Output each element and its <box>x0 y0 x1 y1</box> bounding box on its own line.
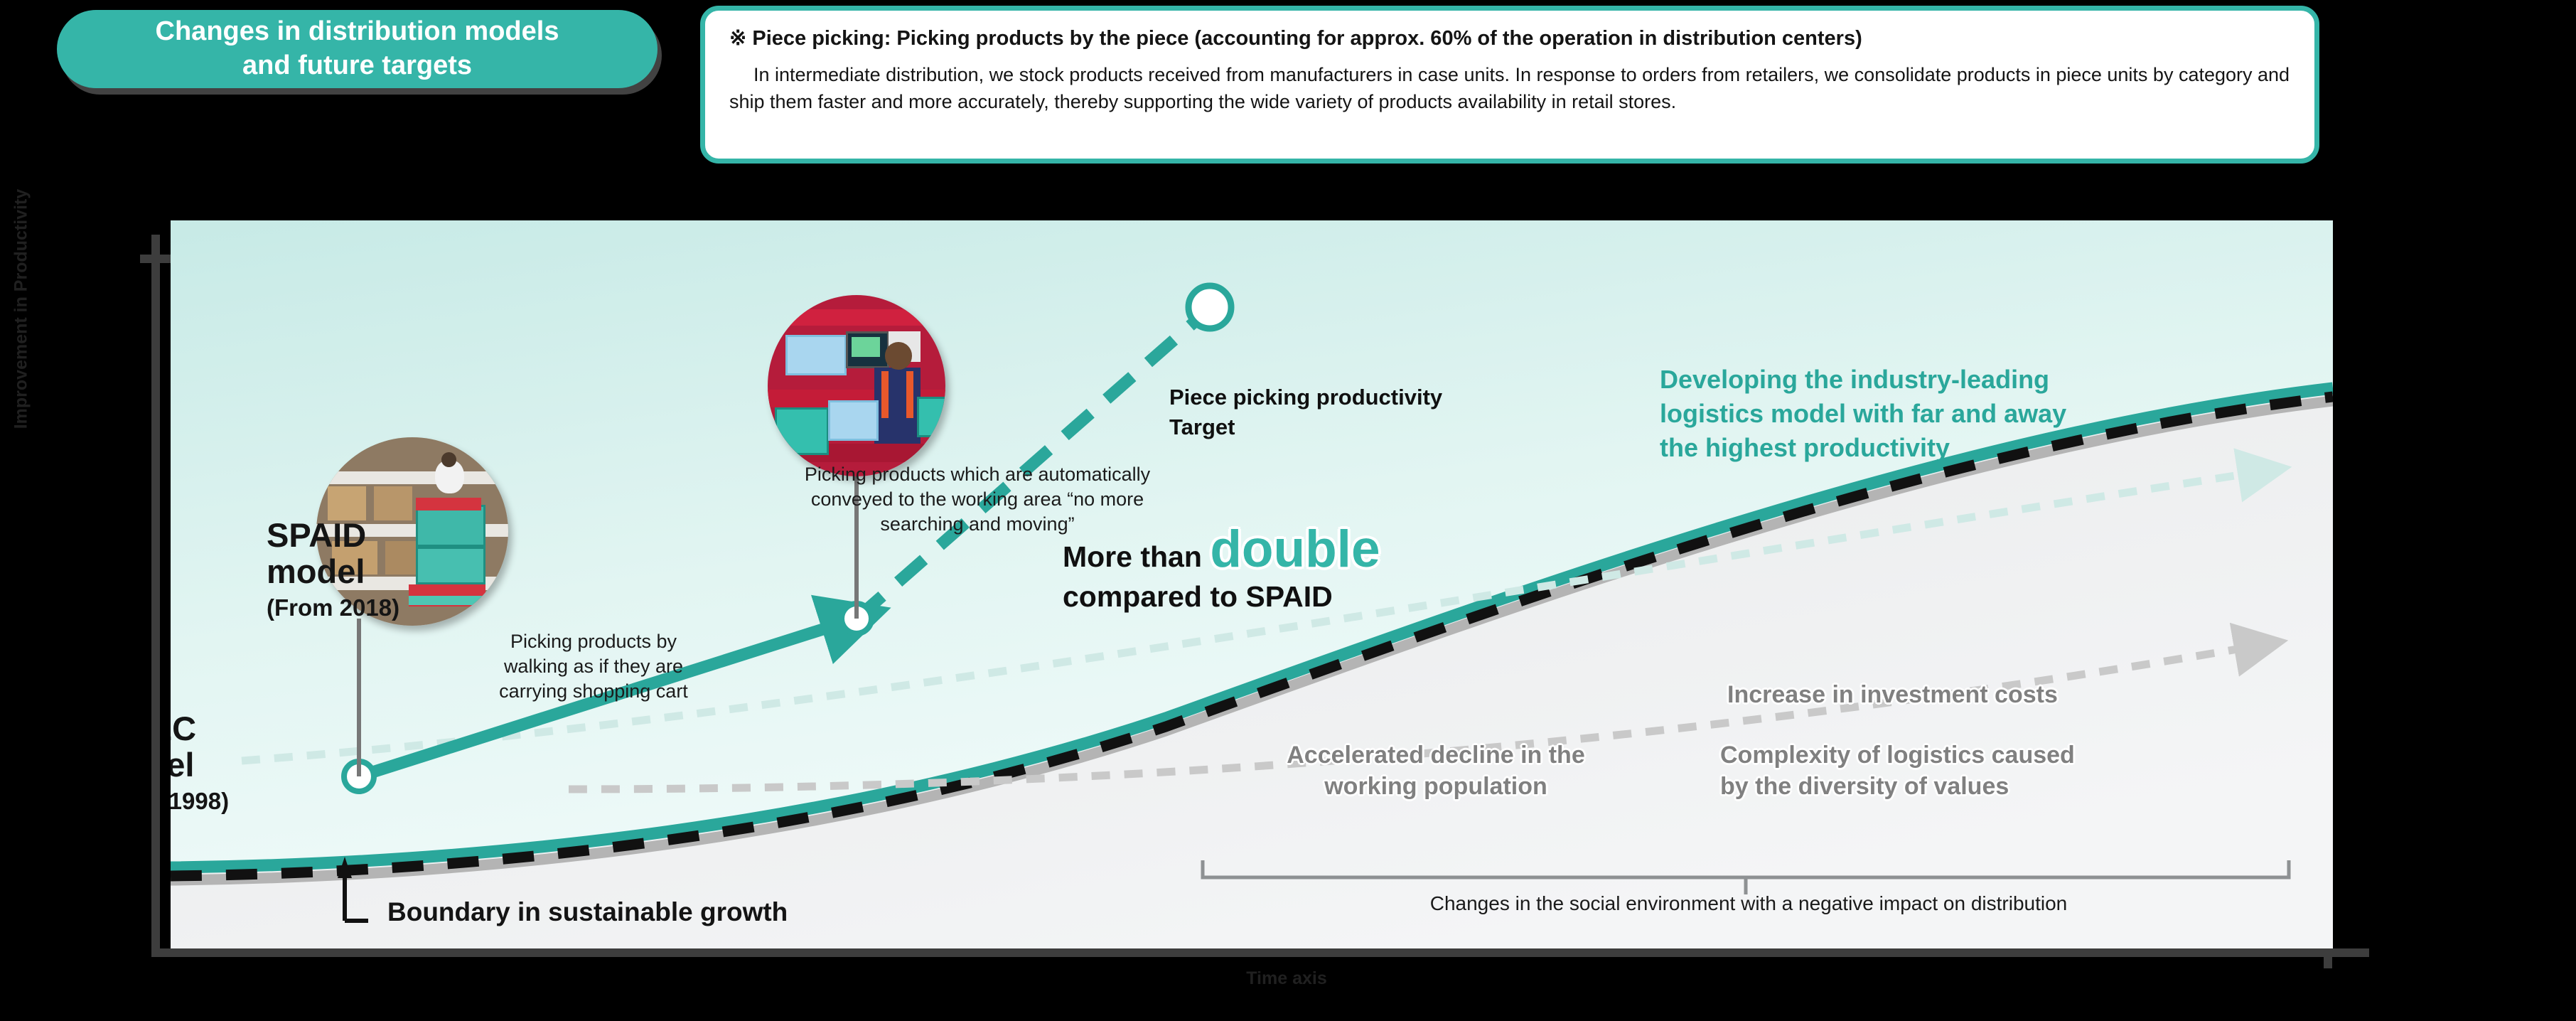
spiec-model-label: SPIEC model (From 1998) <box>171 711 229 813</box>
target-line2: Target <box>1169 412 1624 442</box>
page-title-line1: Changes in distribution models <box>156 15 559 49</box>
worker-head-spaid <box>885 342 912 369</box>
page-title-badge: Changes in distribution models and futur… <box>57 10 658 88</box>
chart-plot-area: Picking products by walking as if they a… <box>171 220 2333 948</box>
complexity-line1: Complexity of logistics caused <box>1720 739 2324 771</box>
crate-teal <box>416 505 485 547</box>
basket-blue-mid <box>828 400 879 441</box>
increase-investment-costs-label: Increase in investment costs <box>1727 679 2058 710</box>
y-axis-label: Improvement in Productivity <box>11 160 32 459</box>
carton-b <box>374 486 412 520</box>
piece-picking-target-label: Piece picking productivity Target <box>1169 383 1624 442</box>
note-body: In intermediate distribution, we stock p… <box>729 61 2290 116</box>
compared-to-spaid-text: compared to SPAID <box>1063 580 1667 614</box>
crate-teal-2 <box>416 547 485 585</box>
piece-picking-note-box: ※ Piece picking: Picking products by the… <box>700 6 2319 164</box>
y-axis <box>151 235 160 953</box>
spiec-caption: Picking products by walking as if they a… <box>476 629 711 704</box>
basket-teal-left <box>775 407 829 455</box>
spaid-model-word: model <box>267 554 399 590</box>
spaid-model-name: SPAID <box>267 518 399 554</box>
basket-blue-top <box>785 335 847 375</box>
spaid-model-label: SPAID model (From 2018) <box>267 518 399 620</box>
spaid-photo-inner <box>768 295 945 476</box>
decline-line1: Accelerated decline in the <box>1187 739 1685 771</box>
worker-strap-right <box>906 371 913 418</box>
complexity-logistics-label: Complexity of logistics caused by the di… <box>1720 739 2324 802</box>
developing-line1: Developing the industry-leading <box>1660 363 2299 397</box>
crate-green-strip <box>409 596 485 605</box>
developing-line3: the highest productivity <box>1660 431 2299 465</box>
crate-red <box>416 498 481 511</box>
x-axis <box>151 948 2369 957</box>
shelf-row-1 <box>316 471 508 485</box>
target-line1: Piece picking productivity <box>1169 383 1624 412</box>
worker-strap-left <box>881 371 889 418</box>
new-model-node-marker <box>1188 286 1231 328</box>
x-axis-label: Time axis <box>1137 968 1436 989</box>
spaid-photo <box>768 295 945 476</box>
developing-industry-leading-text: Developing the industry-leading logistic… <box>1660 363 2299 465</box>
spiec-model-year: (From 1998) <box>171 789 229 814</box>
carton-a <box>328 486 366 520</box>
page-title-line2: and future targets <box>156 49 559 83</box>
more-than-text: More than <box>1063 540 1202 573</box>
decline-line2: working population <box>1187 771 1685 802</box>
spiec-model-name: SPIEC <box>171 711 229 747</box>
complexity-line2: by the diversity of values <box>1720 771 2324 802</box>
more-than-double-block: More than double compared to SPAID <box>1063 523 1667 614</box>
basket-teal-right <box>917 397 945 437</box>
developing-line2: logistics model with far and away <box>1660 397 2299 431</box>
social-environment-caption: Changes in the social environment with a… <box>1194 892 2303 915</box>
monitor-screen-glow <box>852 337 880 357</box>
accelerated-decline-label: Accelerated decline in the working popul… <box>1187 739 1685 802</box>
spaid-model-year: (From 2018) <box>267 595 399 621</box>
spiec-model-word: model <box>171 747 229 784</box>
note-heading: ※ Piece picking: Picking products by the… <box>729 26 2290 51</box>
conveyor-rail-top <box>768 309 945 326</box>
double-text: double <box>1210 520 1380 578</box>
boundary-sustainable-growth-label: Boundary in sustainable growth <box>387 897 788 927</box>
